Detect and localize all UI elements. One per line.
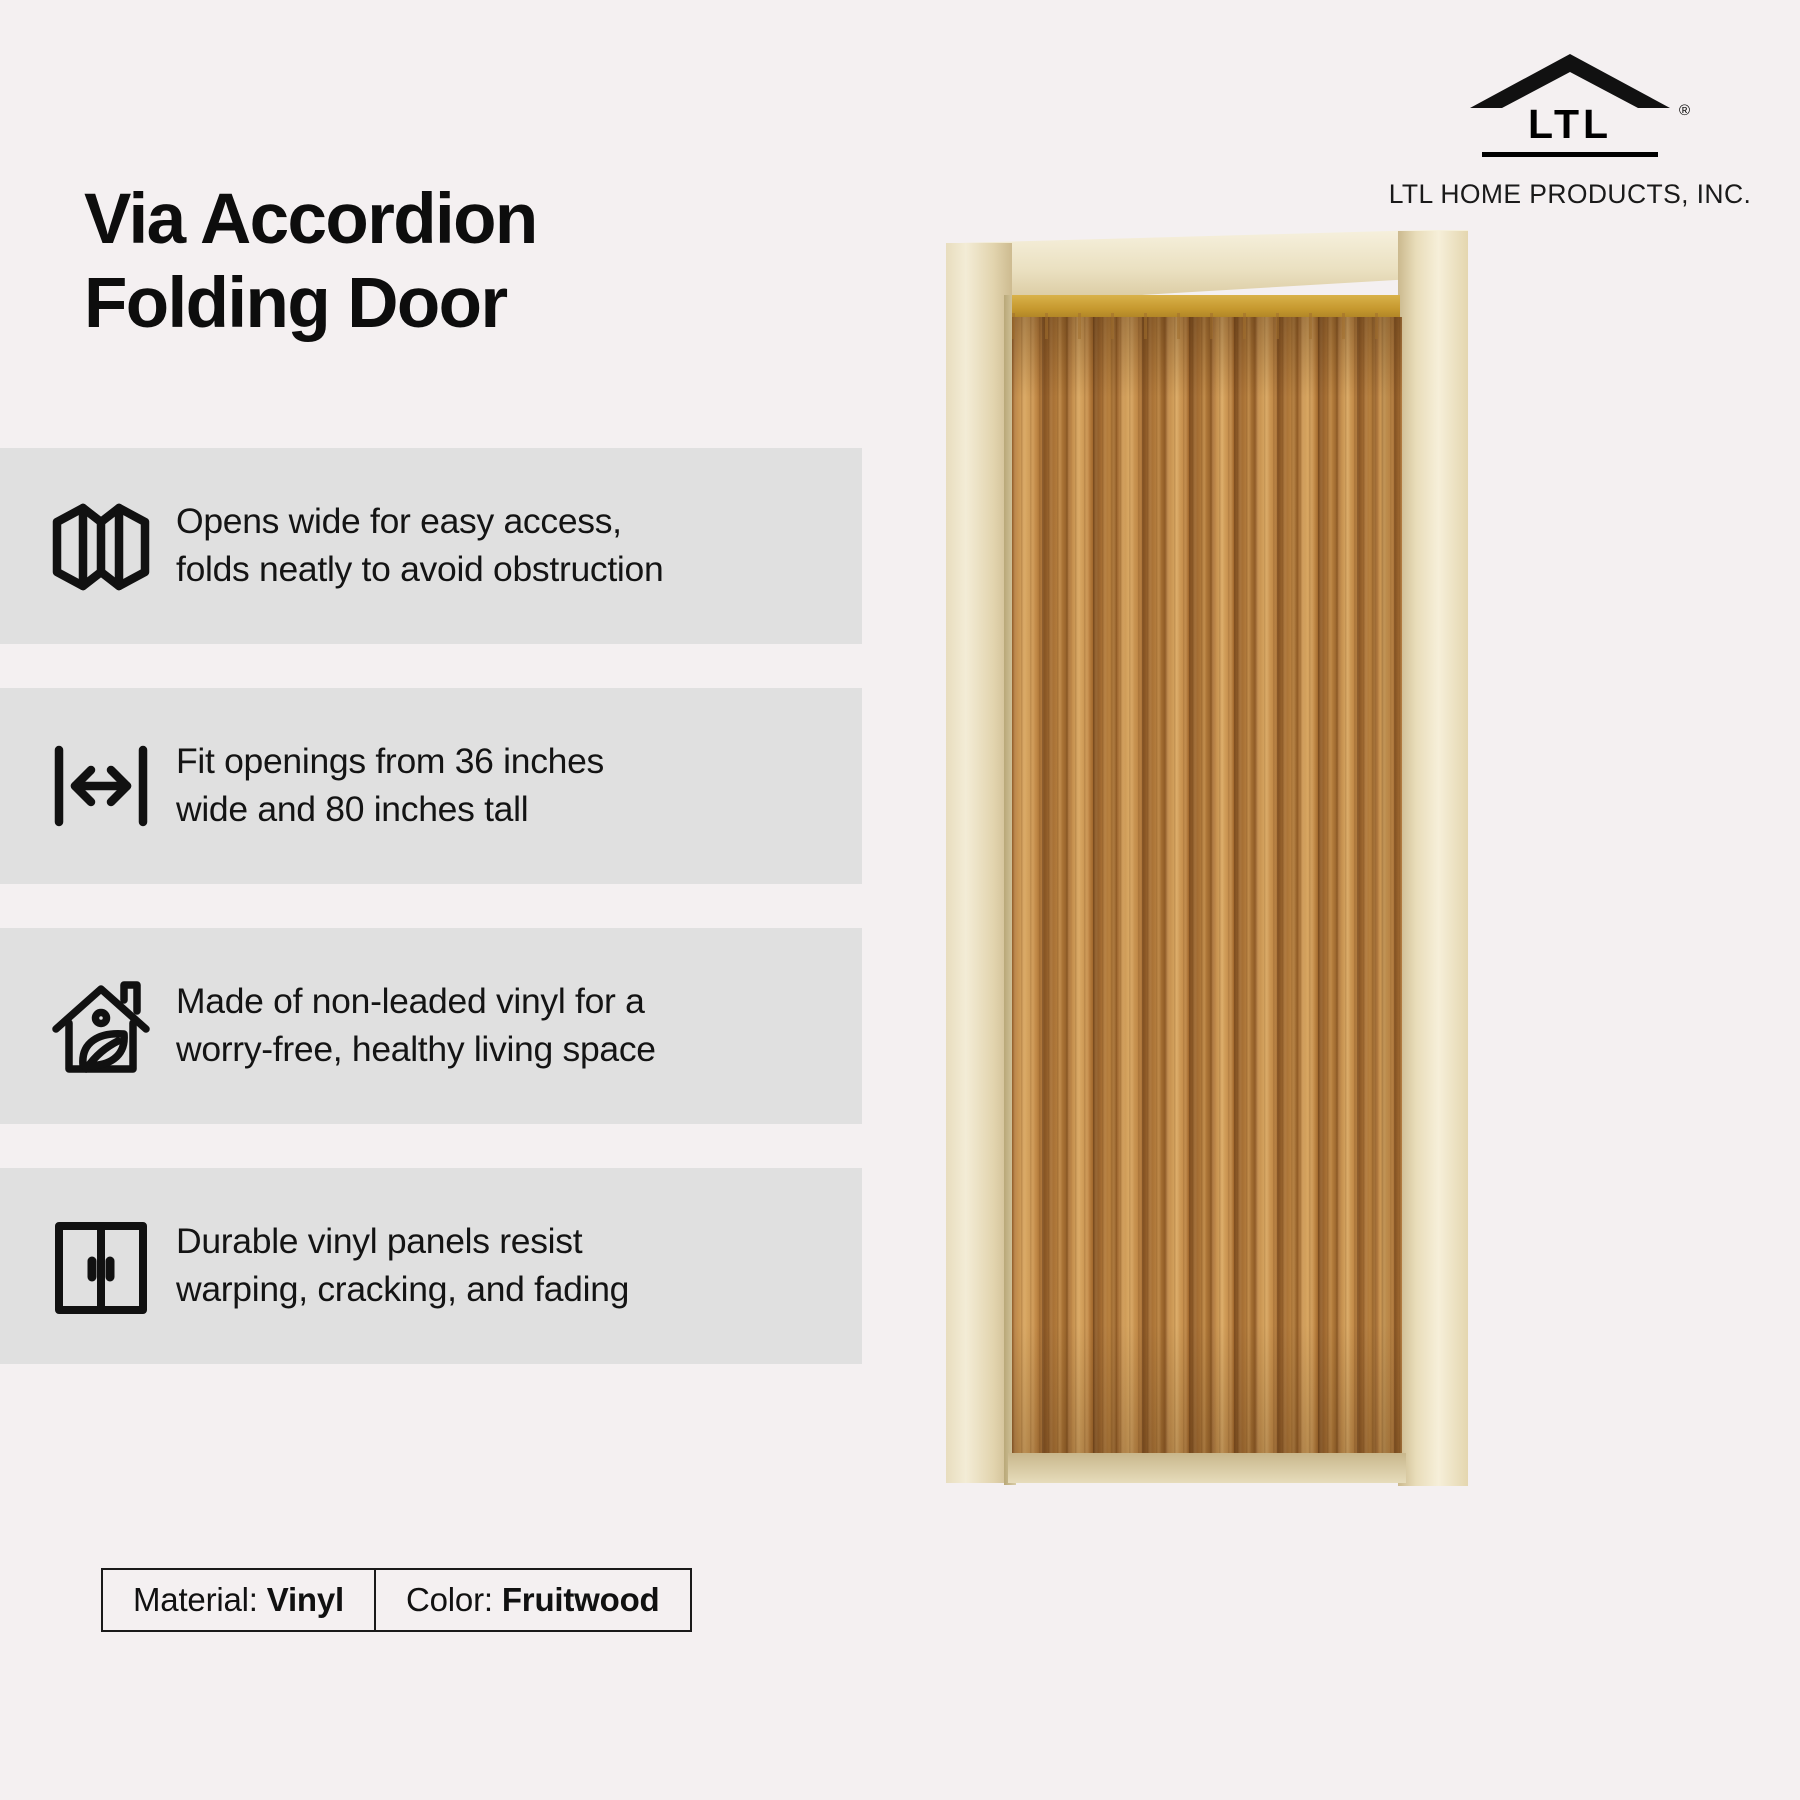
page-title: Via Accordion Folding Door [84,178,537,346]
door-frame-left [946,243,1012,1483]
door-top-edge [1012,313,1402,339]
door-frame-right [1398,231,1468,1486]
brand-logo: LTL® LTL HOME PRODUCTS, INC. [1385,52,1755,210]
feature-row-non-leaded-vinyl: Made of non-leaded vinyl for a worry-fre… [0,928,862,1124]
feature-row-fits-openings: Fit openings from 36 inches wide and 80 … [0,688,862,884]
accordion-door-panels [1012,317,1402,1462]
logo-mark: LTL® [1470,52,1670,157]
spec-color-label: Color: [406,1581,493,1619]
spec-material-value: Vinyl [267,1581,344,1619]
infographic-page: LTL® LTL HOME PRODUCTS, INC. Via Accordi… [0,0,1800,1800]
feature-text: Fit openings from 36 inches wide and 80 … [176,738,624,833]
feature-row-durable-panels: Durable vinyl panels resist warping, cra… [0,1168,862,1364]
eco-house-leaf-icon [0,928,176,1124]
double-door-panels-icon [0,1168,176,1364]
accordion-folding-door-photo [930,225,1490,1490]
width-measure-arrow-icon [0,688,176,884]
spec-material: Material: Vinyl [103,1570,374,1630]
feature-row-opens-wide: Opens wide for easy access, folds neatly… [0,448,862,644]
door-right-edge-shadow [1382,317,1404,1462]
door-shading [1012,317,1402,1462]
feature-text: Durable vinyl panels resist warping, cra… [176,1218,649,1313]
feature-text: Opens wide for easy access, folds neatly… [176,498,683,593]
spec-badge: Material: Vinyl Color: Fruitwood [101,1568,692,1632]
spec-color: Color: Fruitwood [374,1570,690,1630]
folded-map-panels-icon [0,448,176,644]
feature-list: Opens wide for easy access, folds neatly… [0,448,862,1408]
logo-underline [1482,152,1658,157]
spec-color-value: Fruitwood [502,1581,660,1619]
feature-text: Made of non-leaded vinyl for a worry-fre… [176,978,676,1073]
logo-letters: LTL [1528,104,1612,145]
door-floor-shadow [1008,1453,1406,1483]
door-frame-header [946,230,1468,304]
registered-mark-icon: ® [1679,102,1690,119]
company-name: LTL HOME PRODUCTS, INC. [1389,179,1752,210]
logo-letters-row: LTL® [1470,104,1670,145]
spec-material-label: Material: [133,1581,258,1619]
